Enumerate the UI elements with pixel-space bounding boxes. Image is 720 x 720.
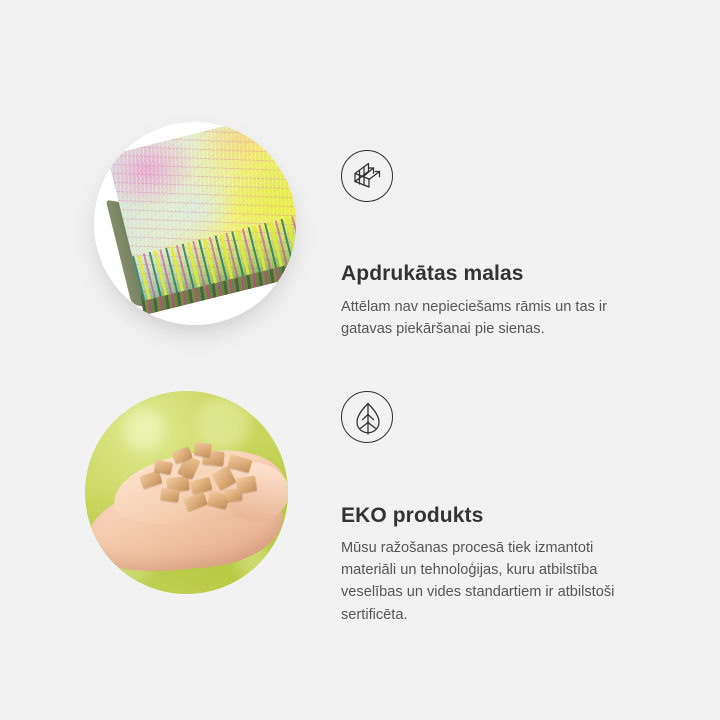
feature-eko-text: EKO produkts Mūsu ražošanas procesā tiek… xyxy=(341,391,691,626)
feature-print-edges-title: Apdrukātas malas xyxy=(341,262,691,286)
feature-print-edges-description: Attēlam nav nepieciešams rāmis un tas ir… xyxy=(341,296,691,340)
canvas-artwork xyxy=(94,122,296,325)
leaf-icon xyxy=(341,391,393,443)
printed-edges-icon xyxy=(341,150,393,202)
canvas-corner-photo xyxy=(94,122,296,325)
feature-eko-title: EKO produkts xyxy=(341,504,691,528)
hands-wood-chips-photo xyxy=(85,391,288,594)
feature-print-edges-text: Apdrukātas malas Attēlam nav nepieciešam… xyxy=(341,150,691,340)
canvas-corner-media xyxy=(94,122,296,325)
eko-media xyxy=(85,391,288,594)
grass-background xyxy=(85,391,288,594)
wood-chips-pile xyxy=(137,443,265,521)
feature-eko-description: Mūsu ražošanas procesā tiek izmantoti ma… xyxy=(341,537,691,626)
promo-feature-panel: Apdrukātas malas Attēlam nav nepieciešam… xyxy=(0,0,720,720)
